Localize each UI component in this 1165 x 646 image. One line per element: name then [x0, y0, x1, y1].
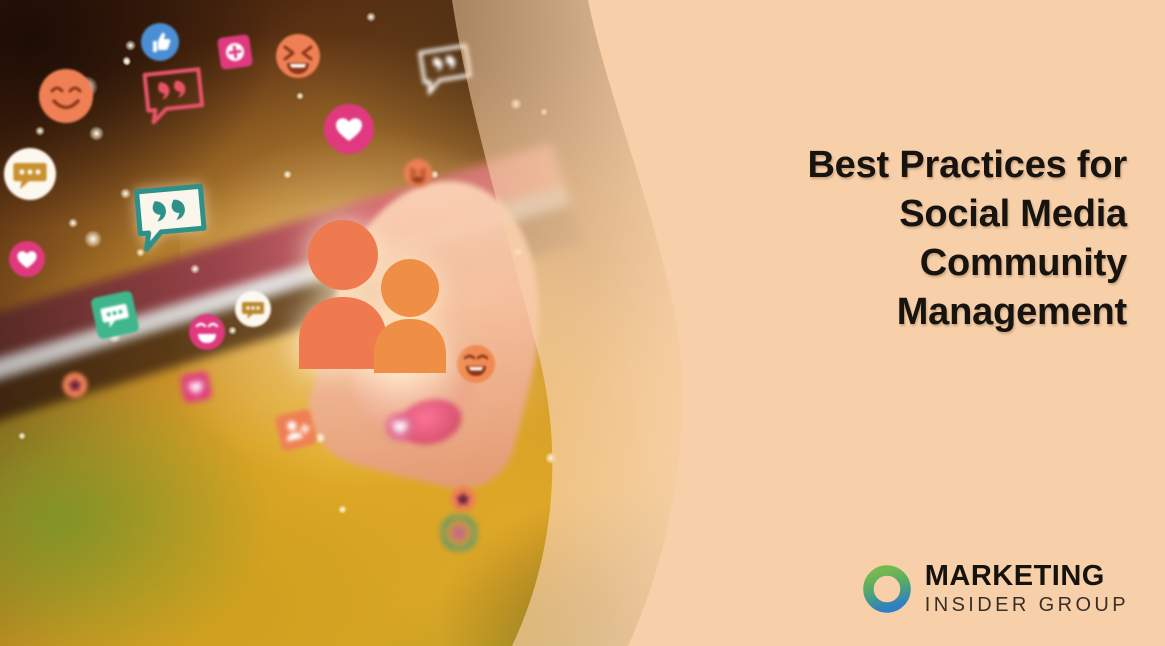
heart-small-pink-icon	[8, 240, 46, 278]
smiley-face-icon	[38, 68, 94, 124]
heart-circle-pink-icon	[323, 103, 375, 155]
sparkle	[338, 505, 347, 514]
sparkle	[68, 218, 78, 228]
chat-bubble-white-icon	[3, 147, 57, 201]
thumbs-up-icon	[140, 22, 180, 62]
banner: Best Practices for Social Media Communit…	[0, 0, 1165, 646]
heart-pink-blur-icon	[385, 412, 415, 442]
title-line-3: Community	[727, 239, 1127, 288]
sparkle	[190, 264, 200, 274]
laughing-face-pink-icon	[188, 313, 226, 351]
heart-square-pink-icon	[180, 371, 212, 403]
sparkle	[283, 170, 292, 179]
chat-bubble-circle-icon	[234, 290, 272, 328]
title-line-4: Management	[727, 288, 1127, 337]
logo-secondary-text: INSIDER GROUP	[925, 595, 1129, 615]
add-badge-icon	[217, 34, 253, 70]
sparkle	[84, 230, 102, 248]
page-title: Best Practices for Social Media Communit…	[727, 141, 1127, 337]
ring-gradient-icon	[863, 565, 911, 613]
brand-logo[interactable]: MARKETING INSIDER GROUP	[863, 562, 1129, 615]
sparkle	[513, 247, 523, 257]
sparkle	[35, 126, 45, 136]
logo-text: MARKETING INSIDER GROUP	[925, 562, 1129, 615]
sparkle	[122, 56, 131, 65]
hero-photo	[0, 0, 700, 646]
chat-square-green-icon	[90, 290, 140, 340]
sparkle	[540, 108, 548, 116]
people-group-icon	[290, 213, 470, 373]
sparkle	[89, 126, 104, 141]
teal-circle-icon	[442, 516, 476, 550]
laughing-face-icon	[275, 33, 321, 79]
star-badge-icon	[62, 372, 88, 398]
quote-bubble-pink-icon	[140, 65, 208, 127]
sparkle	[510, 98, 522, 110]
sparkle	[366, 12, 376, 22]
sparkle	[296, 92, 304, 100]
title-line-2: Social Media	[727, 190, 1127, 239]
logo-primary-text: MARKETING	[925, 562, 1129, 591]
sparkle	[120, 188, 131, 199]
star-badge-bottom-icon	[450, 486, 476, 512]
smiley-small-icon	[403, 158, 433, 188]
title-line-1: Best Practices for	[727, 141, 1127, 190]
sparkle	[596, 30, 605, 39]
quote-bubble-teal-icon	[131, 182, 210, 254]
quote-bubble-white-icon	[417, 42, 476, 98]
sparkle	[545, 452, 557, 464]
sparkle	[125, 40, 136, 51]
sparkle	[18, 432, 26, 440]
